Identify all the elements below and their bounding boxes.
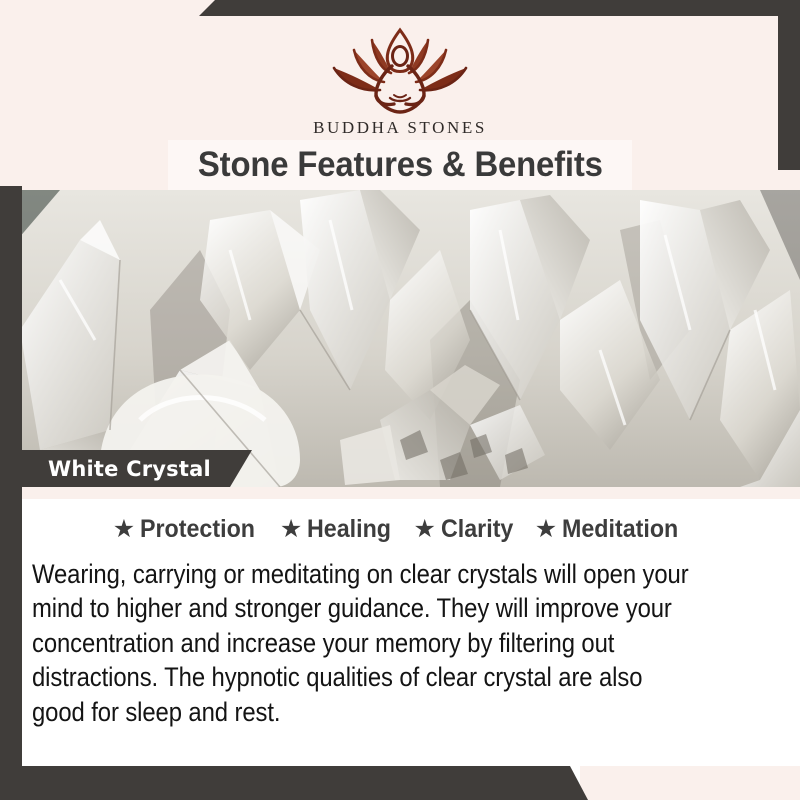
page-title-box: Stone Features & Benefits	[168, 140, 632, 190]
star-icon: ★	[280, 517, 302, 542]
stone-info-poster: BUDDHA STONES Stone Features & Benefits	[0, 0, 800, 800]
stone-photo	[0, 190, 800, 487]
benefit-label: Healing	[307, 515, 391, 544]
brand-name: BUDDHA STONES	[0, 118, 800, 138]
body-section: ★ Protection ★ Healing ★ Clarity ★ Medit…	[0, 487, 800, 800]
star-icon: ★	[414, 517, 436, 542]
star-icon: ★	[113, 517, 135, 542]
benefits-list: ★ Protection ★ Healing ★ Clarity ★ Medit…	[0, 515, 800, 544]
body-top-cream-strip	[0, 487, 800, 499]
header-section: BUDDHA STONES Stone Features & Benefits	[0, 0, 800, 190]
stone-name-label: White Crystal	[22, 457, 211, 481]
benefit-item: ★ Protection	[108, 515, 269, 544]
bottom-right-cream-wedge	[580, 766, 800, 800]
benefit-item: ★ Clarity	[409, 515, 524, 544]
benefit-item: ★ Healing	[275, 515, 403, 544]
star-icon: ★	[535, 517, 557, 542]
left-decorative-bar	[0, 186, 22, 766]
benefit-label: Meditation	[562, 515, 678, 544]
stone-description: Wearing, carrying or meditating on clear…	[32, 557, 698, 729]
benefit-item: ★ Meditation	[530, 515, 692, 544]
lotus-meditation-icon	[310, 24, 490, 116]
brand-logo: BUDDHA STONES	[0, 24, 800, 138]
right-decorative-bar	[778, 0, 800, 170]
page-title: Stone Features & Benefits	[198, 145, 603, 185]
stone-name-ribbon: White Crystal	[22, 450, 252, 487]
benefit-label: Protection	[140, 515, 255, 544]
crystal-cluster-illustration	[0, 190, 800, 487]
benefit-label: Clarity	[441, 515, 513, 544]
